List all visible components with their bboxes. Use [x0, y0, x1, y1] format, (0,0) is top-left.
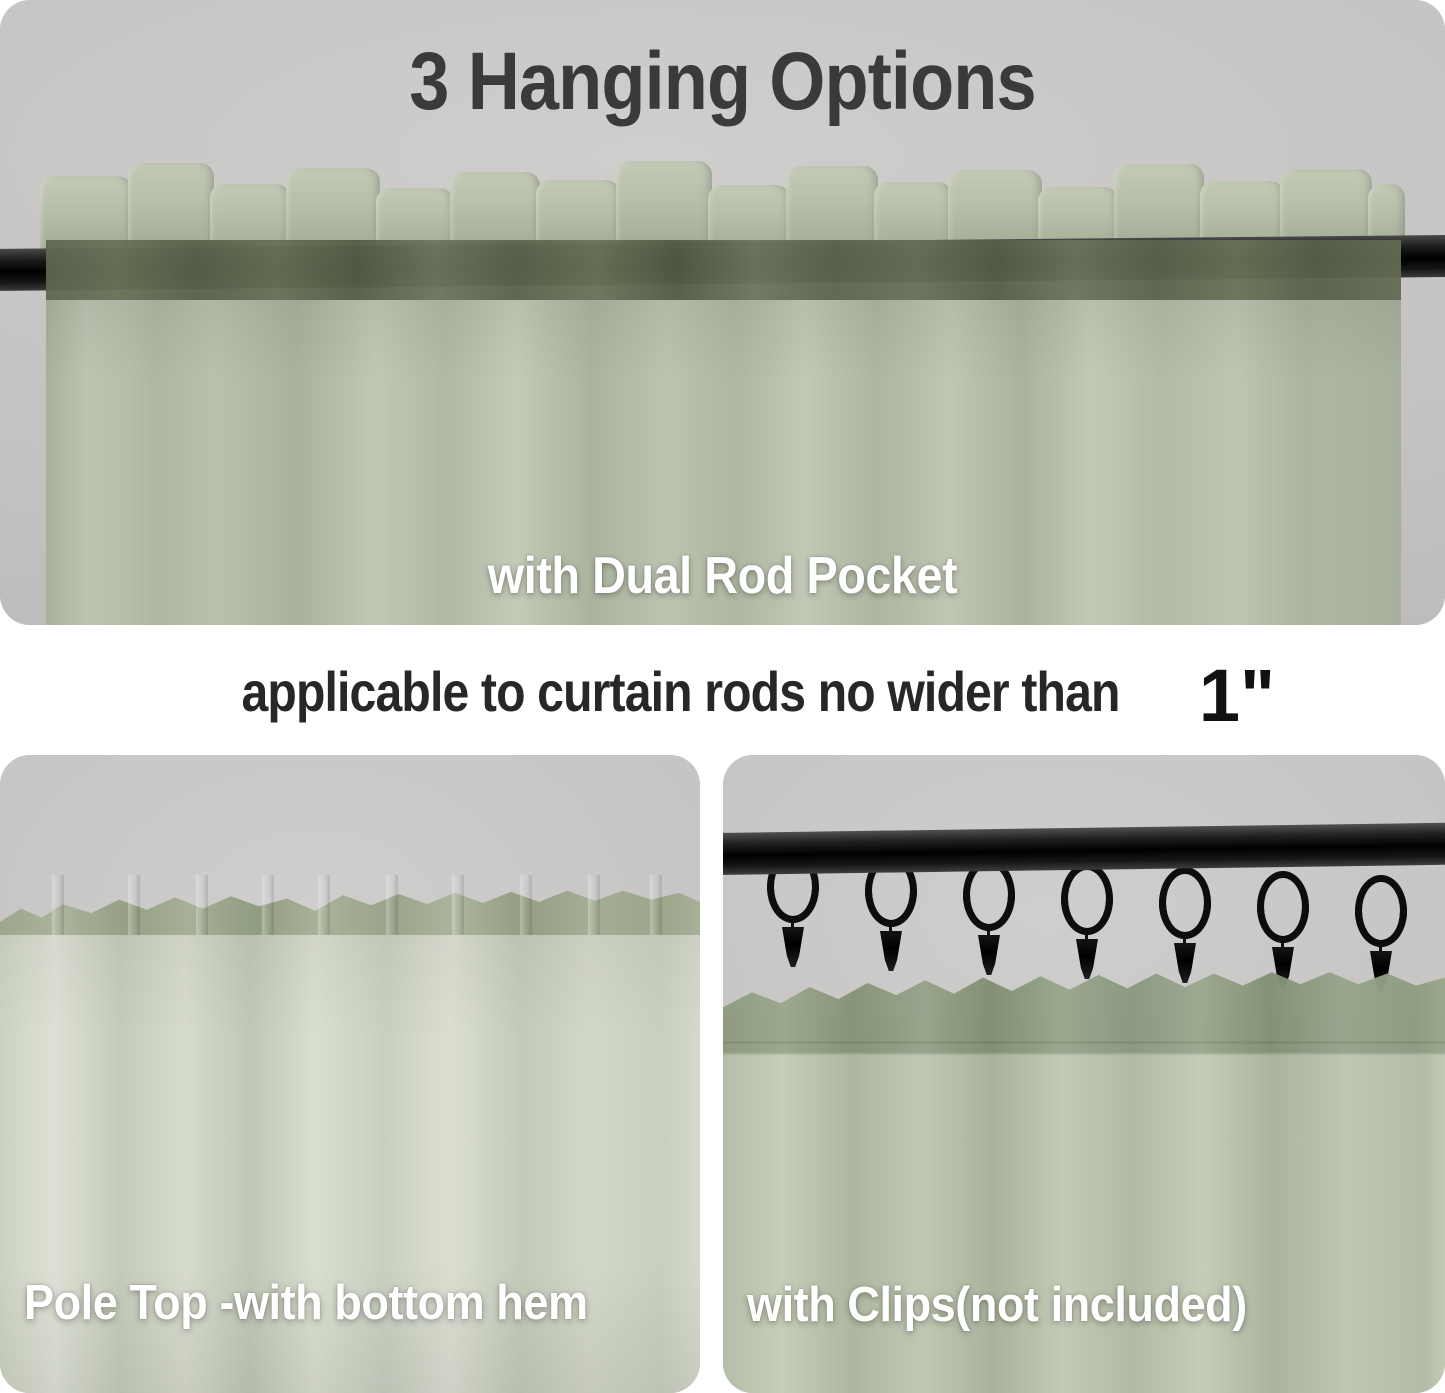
panel-dual-rod-pocket: 3 Hanging Options with Dual Rod Pocket: [0, 0, 1445, 625]
curtain-fabric-body: [723, 1055, 1445, 1393]
caption-pole-top: Pole Top -with bottom hem: [24, 1275, 588, 1331]
rod-width-note: applicable to curtain rods no wider than…: [0, 636, 1445, 746]
caption-dual-rod-pocket: with Dual Rod Pocket: [72, 546, 1373, 606]
rod-pocket-band: [46, 240, 1401, 308]
page-title: 3 Hanging Options: [87, 35, 1359, 129]
panel-pole-top: Pole Top -with bottom hem: [0, 755, 700, 1393]
rod-width-note-text: applicable to curtain rods no wider than: [241, 659, 1119, 724]
rod-width-measure: 1": [1199, 653, 1275, 738]
caption-clips: with Clips(not included): [747, 1277, 1247, 1333]
panel-clips: with Clips(not included): [723, 755, 1445, 1393]
